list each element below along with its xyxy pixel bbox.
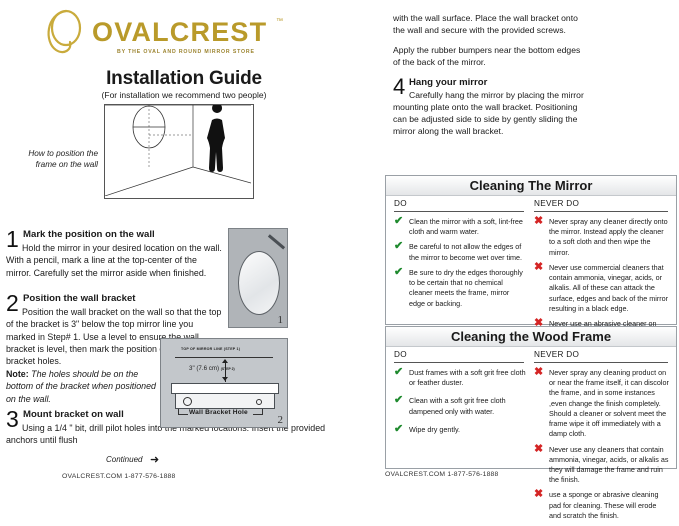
diagram-caption-line2: frame on the wall bbox=[36, 160, 98, 169]
brand-logo: OVALCREST ™ BY THE OVAL AND ROUND MIRROR… bbox=[40, 8, 290, 56]
list-item-text: Be sure to dry the edges thoroughly to b… bbox=[409, 268, 523, 308]
step-4-body: Carefully hang the mirror by placing the… bbox=[393, 89, 593, 137]
bracket-dimension-value: 3" (7.6 cm) bbox=[189, 365, 219, 372]
list-item: ✔ Clean the mirror with a soft, lint-fre… bbox=[394, 217, 526, 237]
list-item: ✔ Clean with a soft grit free cloth damp… bbox=[394, 396, 526, 416]
page-title: Installation Guide bbox=[0, 68, 368, 90]
bracket-hole-tick-left bbox=[178, 409, 188, 415]
page-subtitle: (For installation we recommend two peopl… bbox=[0, 90, 368, 100]
step-2-heading: Position the wall bracket bbox=[23, 293, 136, 304]
check-icon: ✔ bbox=[394, 267, 403, 278]
cleaning-mirror-do-rule bbox=[394, 211, 524, 212]
pencil-icon bbox=[268, 234, 285, 249]
continued-arrow-icon: ➜ bbox=[150, 453, 159, 466]
bracket-dimension-note: (STEP 2) bbox=[221, 367, 235, 371]
bracket-arrow-down-icon bbox=[222, 377, 228, 381]
footer-right: OVALCREST.COM 1-877-576-1888 bbox=[385, 471, 499, 478]
list-item-text: Clean with a soft grit free cloth dampen… bbox=[409, 396, 506, 415]
list-item-text: Wipe dry gently. bbox=[409, 425, 460, 434]
brand-tagline: BY THE OVAL AND ROUND MIRROR STORE bbox=[117, 49, 255, 55]
check-icon: ✔ bbox=[394, 216, 403, 227]
list-item: ✖ use a sponge or abrasive cleaning pad … bbox=[534, 490, 670, 521]
cross-icon: ✖ bbox=[534, 262, 543, 273]
cleaning-frame-title: Cleaning the Wood Frame bbox=[386, 327, 676, 347]
list-item-text: Clean the mirror with a soft, lint-free … bbox=[409, 217, 523, 236]
check-icon: ✔ bbox=[394, 367, 403, 378]
continued-label: Continued bbox=[106, 455, 142, 464]
cleaning-frame-section: Cleaning the Wood Frame DO NEVER DO ✔ Du… bbox=[385, 326, 677, 469]
brand-name: OVALCREST bbox=[92, 17, 267, 48]
cleaning-frame-never-list: ✖ Never spray any cleaning product on or… bbox=[534, 368, 670, 526]
step-3-heading: Mount bracket on wall bbox=[23, 409, 124, 420]
cleaning-mirror-title: Cleaning The Mirror bbox=[386, 176, 676, 196]
continued-paragraph-1: with the wall surface. Place the wall br… bbox=[393, 12, 589, 36]
trademark-symbol: ™ bbox=[276, 18, 283, 25]
list-item: ✖ Never spray any cleaning product on or… bbox=[534, 368, 670, 440]
check-icon: ✔ bbox=[394, 424, 403, 435]
step-4-heading: Hang your mirror bbox=[409, 77, 487, 88]
figure-2-number: 2 bbox=[278, 414, 284, 426]
cross-icon: ✖ bbox=[534, 216, 543, 227]
check-icon: ✔ bbox=[394, 241, 403, 252]
cleaning-frame-never-rule bbox=[534, 362, 668, 363]
left-column: OVALCREST ™ BY THE OVAL AND ROUND MIRROR… bbox=[0, 0, 368, 489]
list-item: ✖ Never use commercial cleaners that con… bbox=[534, 263, 670, 314]
list-item: ✖ Never spray any cleaner directly onto … bbox=[534, 217, 670, 258]
wall-position-diagram bbox=[104, 104, 254, 199]
list-item-text: Never use any cleaners that contain ammo… bbox=[549, 445, 668, 485]
diagram-caption-line1: How to position the bbox=[28, 149, 98, 158]
cleaning-mirror-never-header: NEVER DO bbox=[534, 199, 579, 208]
cross-icon: ✖ bbox=[534, 444, 543, 455]
bracket-top-line-label: TOP OF MIRROR LINE (STEP 1) bbox=[181, 347, 240, 351]
list-item-text: use a sponge or abrasive cleaning pad fo… bbox=[549, 490, 658, 519]
continued-paragraph-2: Apply the rubber bumpers near the bottom… bbox=[393, 44, 589, 68]
step-1-heading: Mark the position on the wall bbox=[23, 229, 155, 240]
cleaning-mirror-never-rule bbox=[534, 211, 668, 212]
figure-wall-bracket-measurement: TOP OF MIRROR LINE (STEP 1) 3" (7.6 cm) … bbox=[160, 338, 288, 428]
cross-icon: ✖ bbox=[534, 367, 543, 378]
list-item-text: Never spray any cleaner directly onto th… bbox=[549, 217, 668, 257]
step-1-body: Hold the mirror in your desired location… bbox=[6, 242, 224, 279]
list-item-text: Be careful to not allow the edges of the… bbox=[409, 242, 522, 261]
note-text: The holes should be on the bottom of the… bbox=[6, 369, 156, 404]
cleaning-frame-never-header: NEVER DO bbox=[534, 350, 579, 359]
footer-left: OVALCREST.COM 1-877-576-1888 bbox=[62, 473, 176, 480]
oval-swirl-icon bbox=[40, 8, 100, 56]
bracket-dimension-label: 3" (7.6 cm) (STEP 2) bbox=[189, 365, 235, 372]
bracket-hole-tick-right bbox=[253, 409, 263, 415]
cleaning-mirror-section: Cleaning The Mirror DO NEVER DO ✔ Clean … bbox=[385, 175, 677, 325]
cleaning-frame-do-header: DO bbox=[394, 350, 407, 359]
list-item: ✔ Be sure to dry the edges thoroughly to… bbox=[394, 268, 526, 309]
cleaning-mirror-do-list: ✔ Clean the mirror with a soft, lint-fre… bbox=[394, 217, 526, 314]
list-item: ✖ Never use any cleaners that contain am… bbox=[534, 445, 670, 486]
bracket-hole-label: Wall Bracket Hole bbox=[189, 409, 248, 416]
note-label: Note: bbox=[6, 369, 29, 379]
cleaning-mirror-do-header: DO bbox=[394, 199, 407, 208]
list-item-text: Dust frames with a soft grit free cloth … bbox=[409, 368, 526, 387]
bracket-top-line bbox=[175, 357, 273, 358]
diagram-caption: How to position the frame on the wall bbox=[6, 148, 98, 170]
right-column: with the wall surface. Place the wall br… bbox=[380, 0, 679, 489]
figure-1-number: 1 bbox=[278, 314, 284, 326]
list-item-text: Never use commercial cleaners that conta… bbox=[549, 263, 668, 313]
list-item-text: Never spray any cleaning product on or n… bbox=[549, 368, 669, 438]
installation-guide-page: OVALCREST ™ BY THE OVAL AND ROUND MIRROR… bbox=[0, 0, 679, 489]
check-icon: ✔ bbox=[394, 395, 403, 406]
list-item: ✔ Wipe dry gently. bbox=[394, 425, 526, 435]
cross-icon: ✖ bbox=[534, 489, 543, 500]
cleaning-frame-do-list: ✔ Dust frames with a soft grit free clot… bbox=[394, 368, 526, 440]
list-item: ✔ Dust frames with a soft grit free clot… bbox=[394, 368, 526, 388]
list-item: ✔ Be careful to not allow the edges of t… bbox=[394, 242, 526, 262]
bracket-hole-left bbox=[183, 397, 192, 406]
cleaning-frame-do-rule bbox=[394, 362, 524, 363]
step-2-note: Note: The holes should be on the bottom … bbox=[6, 368, 156, 405]
room-sketch bbox=[105, 105, 251, 196]
bracket-hole-right bbox=[256, 399, 262, 405]
figure-mirror-with-pencil: 1 bbox=[228, 228, 288, 328]
oval-mirror-shape bbox=[238, 251, 280, 315]
